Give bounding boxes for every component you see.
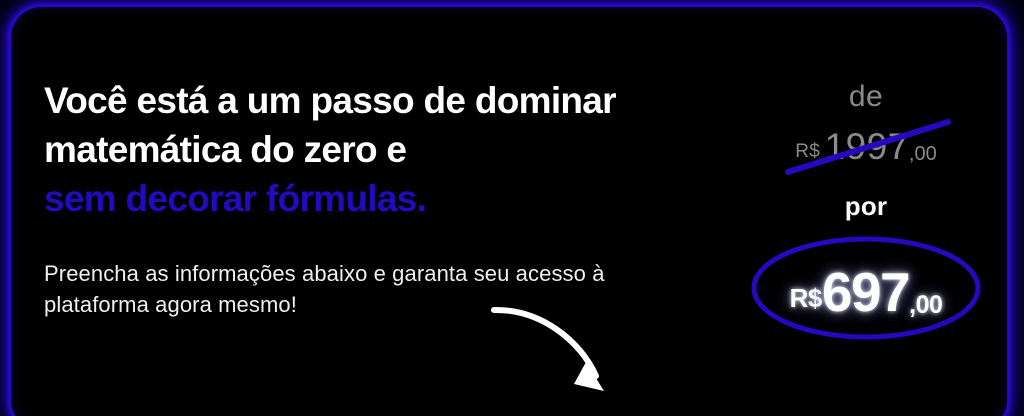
page-title: Você está a um passo de dominar matemáti… xyxy=(44,76,724,224)
new-price-label: por xyxy=(736,191,996,222)
new-price-cents: ,00 xyxy=(909,291,942,319)
pricing-block: de R$ 1997,00 por R$697,00 xyxy=(736,80,996,340)
new-price-currency: R$ xyxy=(790,283,822,313)
headline-line-2: matemática do zero e xyxy=(44,129,406,170)
old-price-label: de xyxy=(736,80,996,114)
new-price-amount: 697 xyxy=(822,261,909,323)
headline-line-3-accent: sem decorar fórmulas. xyxy=(44,178,426,219)
promo-banner: Você está a um passo de dominar matemáti… xyxy=(0,0,1024,416)
new-price-value: R$697,00 xyxy=(736,260,996,324)
price-strikethrough-line xyxy=(784,116,952,178)
old-price-group: de R$ 1997,00 xyxy=(736,80,996,185)
new-price-group: R$697,00 xyxy=(736,236,996,340)
curved-arrow-down-right-icon xyxy=(488,296,618,402)
headline-block: Você está a um passo de dominar matemáti… xyxy=(44,76,724,224)
headline-line-1: Você está a um passo de dominar xyxy=(44,80,616,121)
